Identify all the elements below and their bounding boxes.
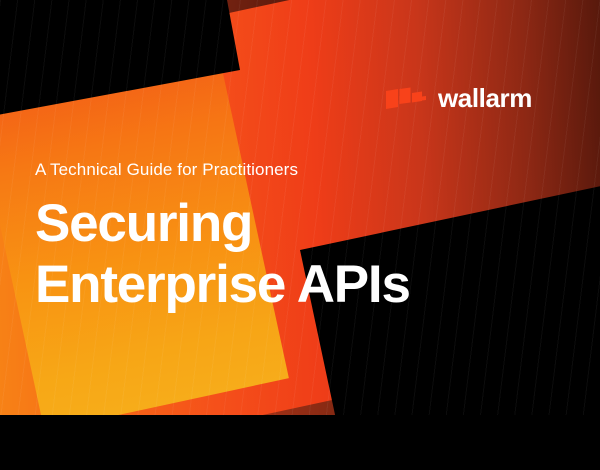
wallarm-logo: wallarm	[386, 85, 532, 111]
wallarm-wordmark: wallarm	[438, 85, 532, 111]
eyebrow-text: A Technical Guide for Practitioners	[35, 160, 410, 180]
title-block: A Technical Guide for Practitioners Secu…	[35, 160, 410, 315]
background-wedge-top-left	[0, 0, 240, 136]
headline-line-2: Enterprise APIs	[35, 255, 410, 315]
bottom-black-bar	[0, 415, 600, 470]
headline-line-1: Securing	[35, 194, 410, 254]
page-title: Securing Enterprise APIs	[35, 194, 410, 315]
wallarm-stairstep-mark-icon	[386, 87, 426, 109]
cover-artwork: wallarm A Technical Guide for Practition…	[0, 0, 600, 470]
